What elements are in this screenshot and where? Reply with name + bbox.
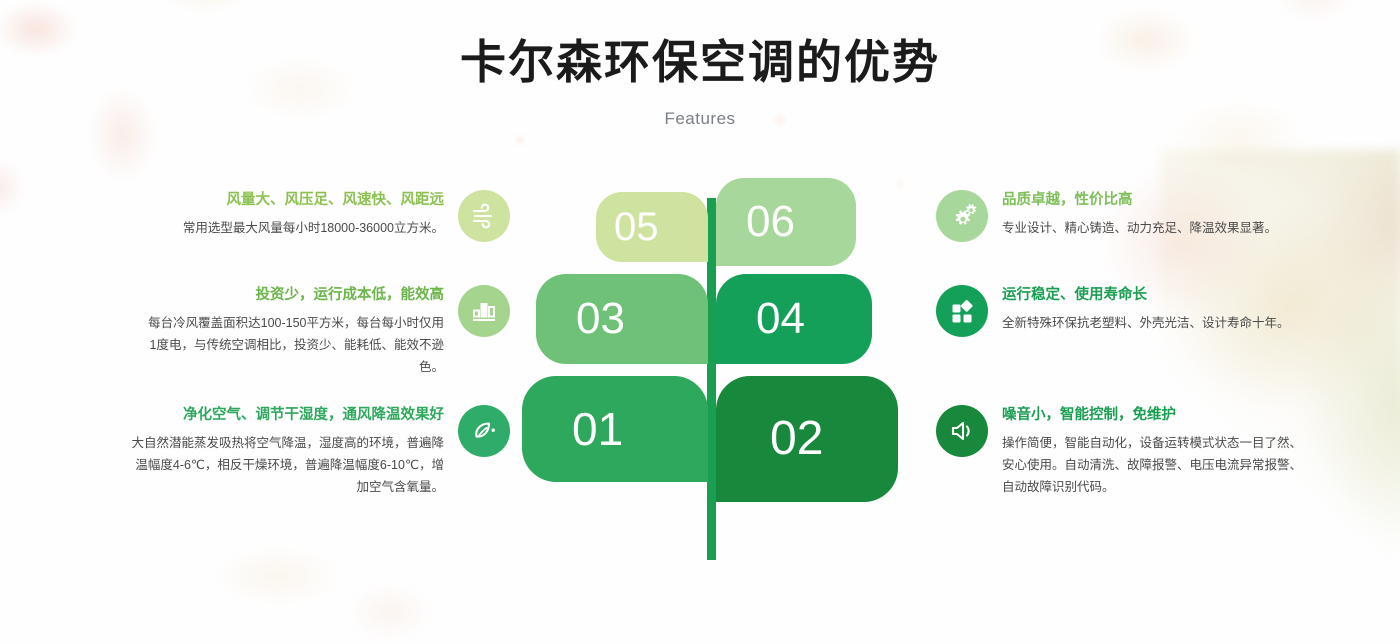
bar-chart-icon — [458, 285, 510, 337]
tree-leaf-01[interactable]: 01 — [522, 376, 708, 482]
feature-block-02: 噪音小，智能控制，免维护 操作简便，智能自动化，设备运转模式状态一目了然、安心使… — [936, 405, 1356, 499]
blocks-icon — [936, 285, 988, 337]
speaker-icon — [936, 405, 988, 457]
feature-04-desc: 全新特殊环保抗老塑料、外壳光洁、设计寿命十年。 — [1002, 313, 1290, 335]
tree-leaf-02[interactable]: 02 — [716, 376, 898, 502]
tree-leaf-03[interactable]: 03 — [536, 274, 708, 364]
feature-02-desc: 操作简便，智能自动化，设备运转模式状态一目了然、安心使用。自动清洗、故障报警、电… — [1002, 433, 1312, 499]
tree-leaf-06[interactable]: 06 — [716, 178, 856, 266]
tree-leaf-02-number: 02 — [770, 415, 823, 463]
tree-leaf-06-number: 06 — [746, 200, 795, 244]
page-title: 卡尔森环保空调的优势 — [0, 36, 1400, 89]
feature-02-text: 噪音小，智能控制，免维护 操作简便，智能自动化，设备运转模式状态一目了然、安心使… — [1002, 405, 1312, 499]
feature-block-04: 运行稳定、使用寿命长 全新特殊环保抗老塑料、外壳光洁、设计寿命十年。 — [936, 285, 1356, 337]
tree-diagram: 05 06 03 04 01 02 — [520, 178, 900, 560]
header: 卡尔森环保空调的优势 Features — [0, 0, 1400, 129]
texture-right — [908, 68, 1400, 644]
gears-icon — [936, 190, 988, 242]
texture-bottom-left — [150, 504, 470, 644]
feature-block-06: 品质卓越，性价比高 专业设计、精心铸造、动力充足、降温效果显著。 — [936, 190, 1356, 242]
tree-leaf-04[interactable]: 04 — [716, 274, 872, 364]
tree-trunk — [707, 198, 716, 560]
feature-06-desc: 专业设计、精心铸造、动力充足、降温效果显著。 — [1002, 218, 1277, 240]
feature-01-title: 净化空气、调节干湿度，通风降温效果好 — [124, 405, 444, 426]
feature-02-title: 噪音小，智能控制，免维护 — [1002, 405, 1312, 426]
feature-03-title: 投资少，运行成本低，能效高 — [144, 285, 444, 306]
feature-block-01: 净化空气、调节干湿度，通风降温效果好 大自然潜能蒸发吸热将空气降温，湿度高的环境… — [80, 405, 510, 499]
feature-infographic-page: 卡尔森环保空调的优势 Features 05 06 03 04 01 0 — [0, 0, 1400, 644]
tree-leaf-03-number: 03 — [576, 297, 625, 341]
feature-03-text: 投资少，运行成本低，能效高 每台冷风覆盖面积达100-150平方米，每台每小时仅… — [144, 285, 444, 379]
feature-06-text: 品质卓越，性价比高 专业设计、精心铸造、动力充足、降温效果显著。 — [1002, 190, 1277, 240]
tree-leaf-05[interactable]: 05 — [596, 192, 708, 262]
tree-leaf-05-number: 05 — [614, 207, 659, 247]
tree-leaf-04-number: 04 — [756, 297, 805, 341]
feature-block-05: 风量大、风压足、风速快、风距远 常用选型最大风量每小时18000-36000立方… — [90, 190, 510, 242]
feature-05-text: 风量大、风压足、风速快、风距远 常用选型最大风量每小时18000-36000立方… — [183, 190, 444, 240]
wind-icon — [458, 190, 510, 242]
feature-04-title: 运行稳定、使用寿命长 — [1002, 285, 1290, 306]
feature-05-desc: 常用选型最大风量每小时18000-36000立方米。 — [183, 218, 444, 240]
leaf-icon — [458, 405, 510, 457]
feature-06-title: 品质卓越，性价比高 — [1002, 190, 1277, 211]
feature-03-desc: 每台冷风覆盖面积达100-150平方米，每台每小时仅用1度电，与传统空调相比，投… — [144, 313, 444, 379]
feature-01-desc: 大自然潜能蒸发吸热将空气降温，湿度高的环境，普遍降温幅度4-6℃，相反干燥环境，… — [124, 433, 444, 499]
page-subtitle: Features — [0, 109, 1400, 129]
feature-01-text: 净化空气、调节干湿度，通风降温效果好 大自然潜能蒸发吸热将空气降温，湿度高的环境… — [124, 405, 444, 499]
feature-05-title: 风量大、风压足、风速快、风距远 — [183, 190, 444, 211]
feature-block-03: 投资少，运行成本低，能效高 每台冷风覆盖面积达100-150平方米，每台每小时仅… — [90, 285, 510, 379]
feature-04-text: 运行稳定、使用寿命长 全新特殊环保抗老塑料、外壳光洁、设计寿命十年。 — [1002, 285, 1290, 335]
tree-leaf-01-number: 01 — [572, 406, 623, 452]
